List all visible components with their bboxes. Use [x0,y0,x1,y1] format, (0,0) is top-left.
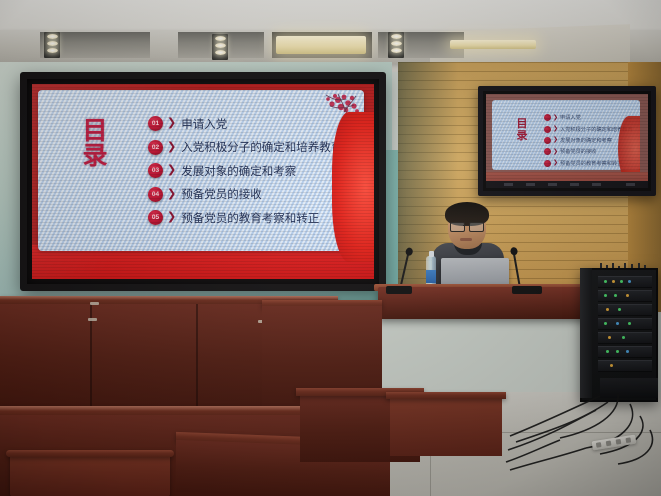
chevron-right-icon: ❯ [167,189,176,200]
chair-back-top [6,450,174,457]
tv-toc-badge [544,160,551,167]
spotlight-cluster [212,34,228,60]
desk-nameplate [90,302,99,305]
chevron-right-icon: ❯ [167,165,176,176]
slide-red-accent [332,112,374,262]
toc-item-label: 入党积极分子的确定和培养教育 [181,139,350,155]
toc-badge: 05 [148,210,163,225]
tv-toc-item: ❯ 申请入党 [544,112,634,123]
toc-item: 02 ❯ 入党积极分子的确定和培养教育 [148,136,350,160]
tv-slide-card: 目 录 ❯ 申请入党 ❯ 入党积极分子的确定和培养教育 [492,100,640,170]
desk-seam [196,304,198,412]
tv-slide-title: 目 录 [514,118,530,141]
toc-badge: 03 [148,163,163,178]
chevron-right-icon: ❯ [553,160,558,166]
slide-content: 目 录 01 ❯ 申请入党 02 ❯ 入党积极分子的确定和培养教育 [32,84,374,279]
toc-item-label: 发展对象的确定和考察 [181,163,350,179]
toc-item: 01 ❯ 申请入党 [148,112,350,136]
rack-unit[interactable] [598,318,652,330]
chevron-right-icon: ❯ [553,137,558,143]
chevron-right-icon: ❯ [167,118,176,129]
main-led-screen[interactable]: 目 录 01 ❯ 申请入党 02 ❯ 入党积极分子的确定和培养教育 [20,72,386,291]
spotlight-cluster [44,32,60,58]
toc-item: 05 ❯ 预备党员的教育考察和转正 [148,206,350,230]
presenter-mouth [460,238,472,241]
toc-item-label: 申请入党 [181,116,350,132]
stage-step [390,396,502,456]
slide-card: 目 录 01 ❯ 申请入党 02 ❯ 入党积极分子的确定和培养教育 [38,90,364,251]
tv-slide-content: 目 录 ❯ 申请入党 ❯ 入党积极分子的确定和培养教育 [486,94,648,188]
chevron-right-icon: ❯ [167,212,176,223]
chevron-right-icon: ❯ [553,126,558,132]
toc-badge: 04 [148,187,163,202]
slide-title-char-1: 目 [78,118,112,143]
rack-unit[interactable] [598,276,652,288]
tv-toc-badge [544,148,551,155]
chevron-right-icon: ❯ [553,149,558,155]
floor-cables [500,390,661,496]
tv-toc-badge [544,126,551,133]
toc-badge: 01 [148,116,163,131]
microphone-base [386,286,412,294]
toc-item: 04 ❯ 预备党员的接收 [148,183,350,207]
presentation-hall-photo: 目 录 01 ❯ 申请入党 02 ❯ 入党积极分子的确定和培养教育 [0,0,661,496]
rack-side-panel [580,268,592,398]
ceiling-light-tube [276,36,366,54]
rack-unit[interactable] [598,304,652,316]
slide-toc-list: 01 ❯ 申请入党 02 ❯ 入党积极分子的确定和培养教育 03 ❯ 发 [148,112,350,230]
tv-title-char-2: 录 [514,130,530,142]
tv-toc-badge [544,137,551,144]
desk-nameplate [88,318,97,321]
rack-unit[interactable] [598,332,652,344]
rack-unit[interactable] [598,346,652,358]
tv-title-char-1: 目 [514,118,530,130]
toc-item-label: 预备党员的接收 [181,186,350,202]
glasses-icon [450,222,484,230]
toc-item-label: 预备党员的教育考察和转正 [181,210,350,226]
chevron-right-icon: ❯ [553,115,558,121]
chair-back [10,452,170,496]
toc-badge: 02 [148,140,163,155]
spotlight-cluster [388,32,404,58]
toc-item: 03 ❯ 发展对象的确定和考察 [148,159,350,183]
stage-step-top [386,392,506,399]
wall-mounted-tv[interactable]: 目 录 ❯ 申请入党 ❯ 入党积极分子的确定和培养教育 [478,86,656,196]
chevron-right-icon: ❯ [167,142,176,153]
tv-control-bar[interactable] [486,181,648,188]
rack-unit[interactable] [598,360,652,372]
slide-title-char-2: 录 [78,143,112,168]
tv-toc-badge [544,114,551,121]
slide-title: 目 录 [78,118,112,168]
rack-unit[interactable] [598,290,652,302]
ceiling-light-tube [450,40,536,49]
microphone-base [512,286,542,294]
